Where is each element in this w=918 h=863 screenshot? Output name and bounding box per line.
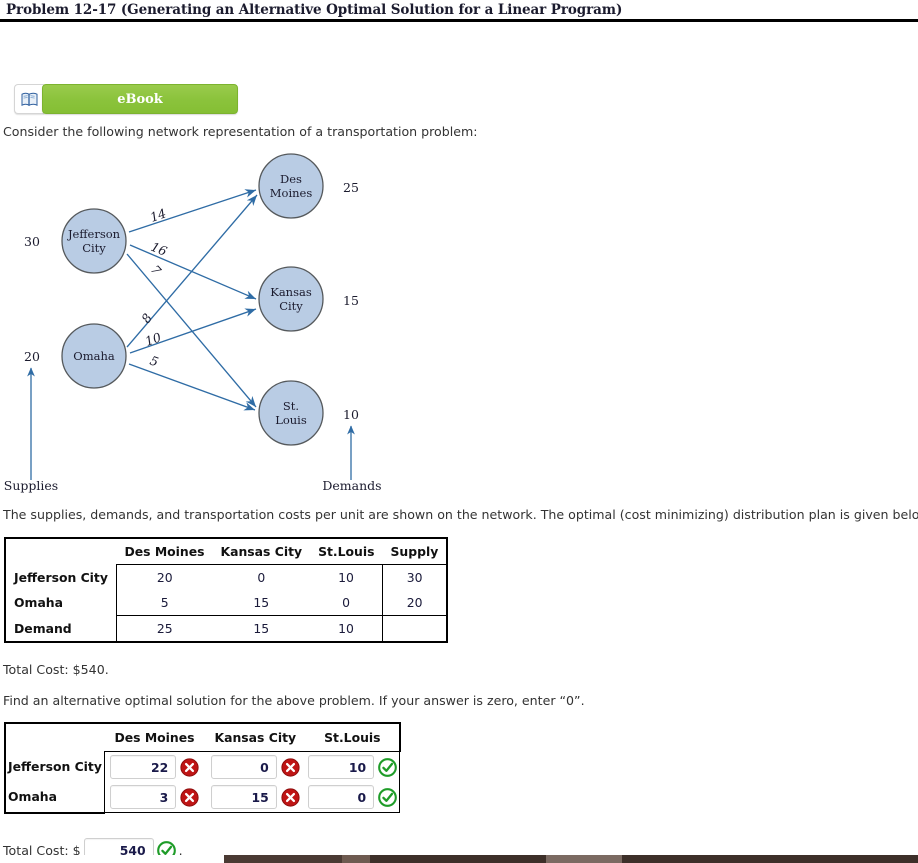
supply-note-text: The supplies, demands, and transportatio… xyxy=(3,507,918,522)
table-header-row: Des Moines Kansas City St.Louis Supply xyxy=(5,538,447,565)
row-label-omaha: Omaha xyxy=(5,782,104,813)
supply-value-jefferson-city: 30 xyxy=(24,234,40,249)
incorrect-icon xyxy=(281,758,300,777)
demands-axis-label: Demands xyxy=(322,478,381,493)
answer-input-jc-des-moines[interactable] xyxy=(110,755,176,779)
arc-jc-st-louis xyxy=(127,254,256,407)
node-label-jefferson-city-line1: Jefferson xyxy=(67,227,121,241)
incorrect-icon xyxy=(180,788,199,807)
problem-header: Problem 12-17 (Generating an Alternative… xyxy=(0,0,918,22)
answer-cell-jc-kansas-city xyxy=(205,752,307,783)
table-row: Jefferson City xyxy=(5,752,400,783)
supply-value-omaha: 20 xyxy=(24,349,40,364)
column-header-kansas-city: Kansas City xyxy=(213,538,311,565)
column-header-des-moines: Des Moines xyxy=(116,538,212,565)
node-label-jefferson-city-line2: City xyxy=(82,241,106,255)
node-label-kansas-city-line1: Kansas xyxy=(270,285,312,299)
demand-value-st-louis: 10 xyxy=(343,407,359,422)
ebook-button[interactable]: eBook xyxy=(42,84,238,114)
correct-icon xyxy=(378,788,397,807)
bottom-chrome xyxy=(0,855,918,863)
table-header-row: Des Moines Kansas City St.Louis xyxy=(5,723,400,752)
cost-label-jc-kansas-city: 16 xyxy=(149,239,169,259)
source-node-omaha: Omaha xyxy=(62,324,126,388)
page-title: Problem 12-17 (Generating an Alternative… xyxy=(6,2,622,18)
find-alt-text: Find an alternative optimal solution for… xyxy=(3,693,585,708)
answer-input-jc-st-louis[interactable] xyxy=(308,755,374,779)
answer-input-om-des-moines[interactable] xyxy=(110,785,176,809)
node-label-omaha: Omaha xyxy=(73,349,115,363)
answer-cell-jc-des-moines xyxy=(104,752,204,783)
ebook-control[interactable]: eBook xyxy=(14,84,238,114)
cell-demand-st-louis: 10 xyxy=(310,616,382,643)
optimal-total-cost: Total Cost: $540. xyxy=(3,662,109,677)
cost-label-om-kansas-city: 10 xyxy=(143,329,163,348)
cell-om-kansas-city: 15 xyxy=(213,590,311,616)
cell-demand-kansas-city: 15 xyxy=(213,616,311,643)
column-header-kansas-city: Kansas City xyxy=(205,723,307,752)
column-header-st-louis: St.Louis xyxy=(310,538,382,565)
cost-label-jc-des-moines: 14 xyxy=(148,205,168,224)
answer-input-om-kansas-city[interactable] xyxy=(211,785,277,809)
cell-demand-des-moines: 25 xyxy=(116,616,212,643)
node-label-kansas-city-line2: City xyxy=(279,299,303,313)
cell-jc-des-moines: 20 xyxy=(116,565,212,591)
chrome-seg-2 xyxy=(224,855,342,863)
source-node-jefferson-city: Jefferson City xyxy=(62,209,126,273)
cost-label-om-des-moines: 8 xyxy=(138,311,155,326)
demand-value-des-moines: 25 xyxy=(343,180,359,195)
answer-cell-jc-st-louis xyxy=(306,752,400,783)
column-header-supply: Supply xyxy=(382,538,447,565)
book-icon[interactable] xyxy=(14,84,44,114)
table-row: Omaha 5 15 0 20 xyxy=(5,590,447,616)
table-row: Omaha xyxy=(5,782,400,813)
row-label-demand: Demand xyxy=(5,616,116,643)
answer-input-table: Des Moines Kansas City St.Louis Jefferso… xyxy=(4,722,401,814)
node-label-des-moines-line1: Des xyxy=(280,172,302,186)
cell-demand-blank xyxy=(382,616,447,643)
dest-node-des-moines: Des Moines xyxy=(259,154,323,218)
dest-node-st-louis: St. Louis xyxy=(259,381,323,445)
row-label-jefferson-city: Jefferson City xyxy=(5,752,104,783)
cost-label-jc-st-louis: 7 xyxy=(148,262,165,278)
table-row-demand: Demand 25 15 10 xyxy=(5,616,447,643)
arc-om-des-moines xyxy=(127,195,257,347)
incorrect-icon xyxy=(180,758,199,777)
answer-input-om-st-louis[interactable] xyxy=(308,785,374,809)
intro-text: Consider the following network represent… xyxy=(3,124,478,139)
dest-node-kansas-city: Kansas City xyxy=(259,267,323,331)
table-row: Jefferson City 20 0 10 30 xyxy=(5,565,447,591)
transportation-network-diagram: 14 16 7 8 10 5 Jefferson City Omaha Des … xyxy=(0,142,420,502)
column-header-des-moines: Des Moines xyxy=(104,723,204,752)
answer-input-jc-kansas-city[interactable] xyxy=(211,755,277,779)
column-header-st-louis: St.Louis xyxy=(306,723,400,752)
cell-jc-supply: 30 xyxy=(382,565,447,591)
corner-cell xyxy=(5,723,104,752)
cell-om-des-moines: 5 xyxy=(116,590,212,616)
node-label-st-louis-line1: St. xyxy=(283,399,299,413)
answer-cell-om-kansas-city xyxy=(205,782,307,813)
correct-icon xyxy=(378,758,397,777)
incorrect-icon xyxy=(281,788,300,807)
row-label-jefferson-city: Jefferson City xyxy=(5,565,116,591)
cell-jc-kansas-city: 0 xyxy=(213,565,311,591)
node-label-des-moines-line2: Moines xyxy=(270,186,313,200)
optimal-solution-table: Des Moines Kansas City St.Louis Supply J… xyxy=(4,537,448,643)
cell-om-st-louis: 0 xyxy=(310,590,382,616)
row-label-omaha: Omaha xyxy=(5,590,116,616)
corner-cell xyxy=(5,538,116,565)
cost-label-om-st-louis: 5 xyxy=(148,353,160,370)
node-label-st-louis-line2: Louis xyxy=(275,413,307,427)
network-arcs xyxy=(127,190,257,410)
chrome-seg-5 xyxy=(546,855,622,863)
answer-cell-om-des-moines xyxy=(104,782,204,813)
cell-om-supply: 20 xyxy=(382,590,447,616)
chrome-seg-6 xyxy=(622,855,918,863)
arc-om-st-louis xyxy=(129,364,255,410)
answer-cell-om-st-louis xyxy=(306,782,400,813)
cell-jc-st-louis: 10 xyxy=(310,565,382,591)
demand-value-kansas-city: 15 xyxy=(343,293,359,308)
supplies-axis-label: Supplies xyxy=(4,478,58,493)
chrome-seg-3 xyxy=(342,855,370,863)
chrome-seg-4 xyxy=(370,855,546,863)
chrome-seg-1 xyxy=(0,855,224,863)
